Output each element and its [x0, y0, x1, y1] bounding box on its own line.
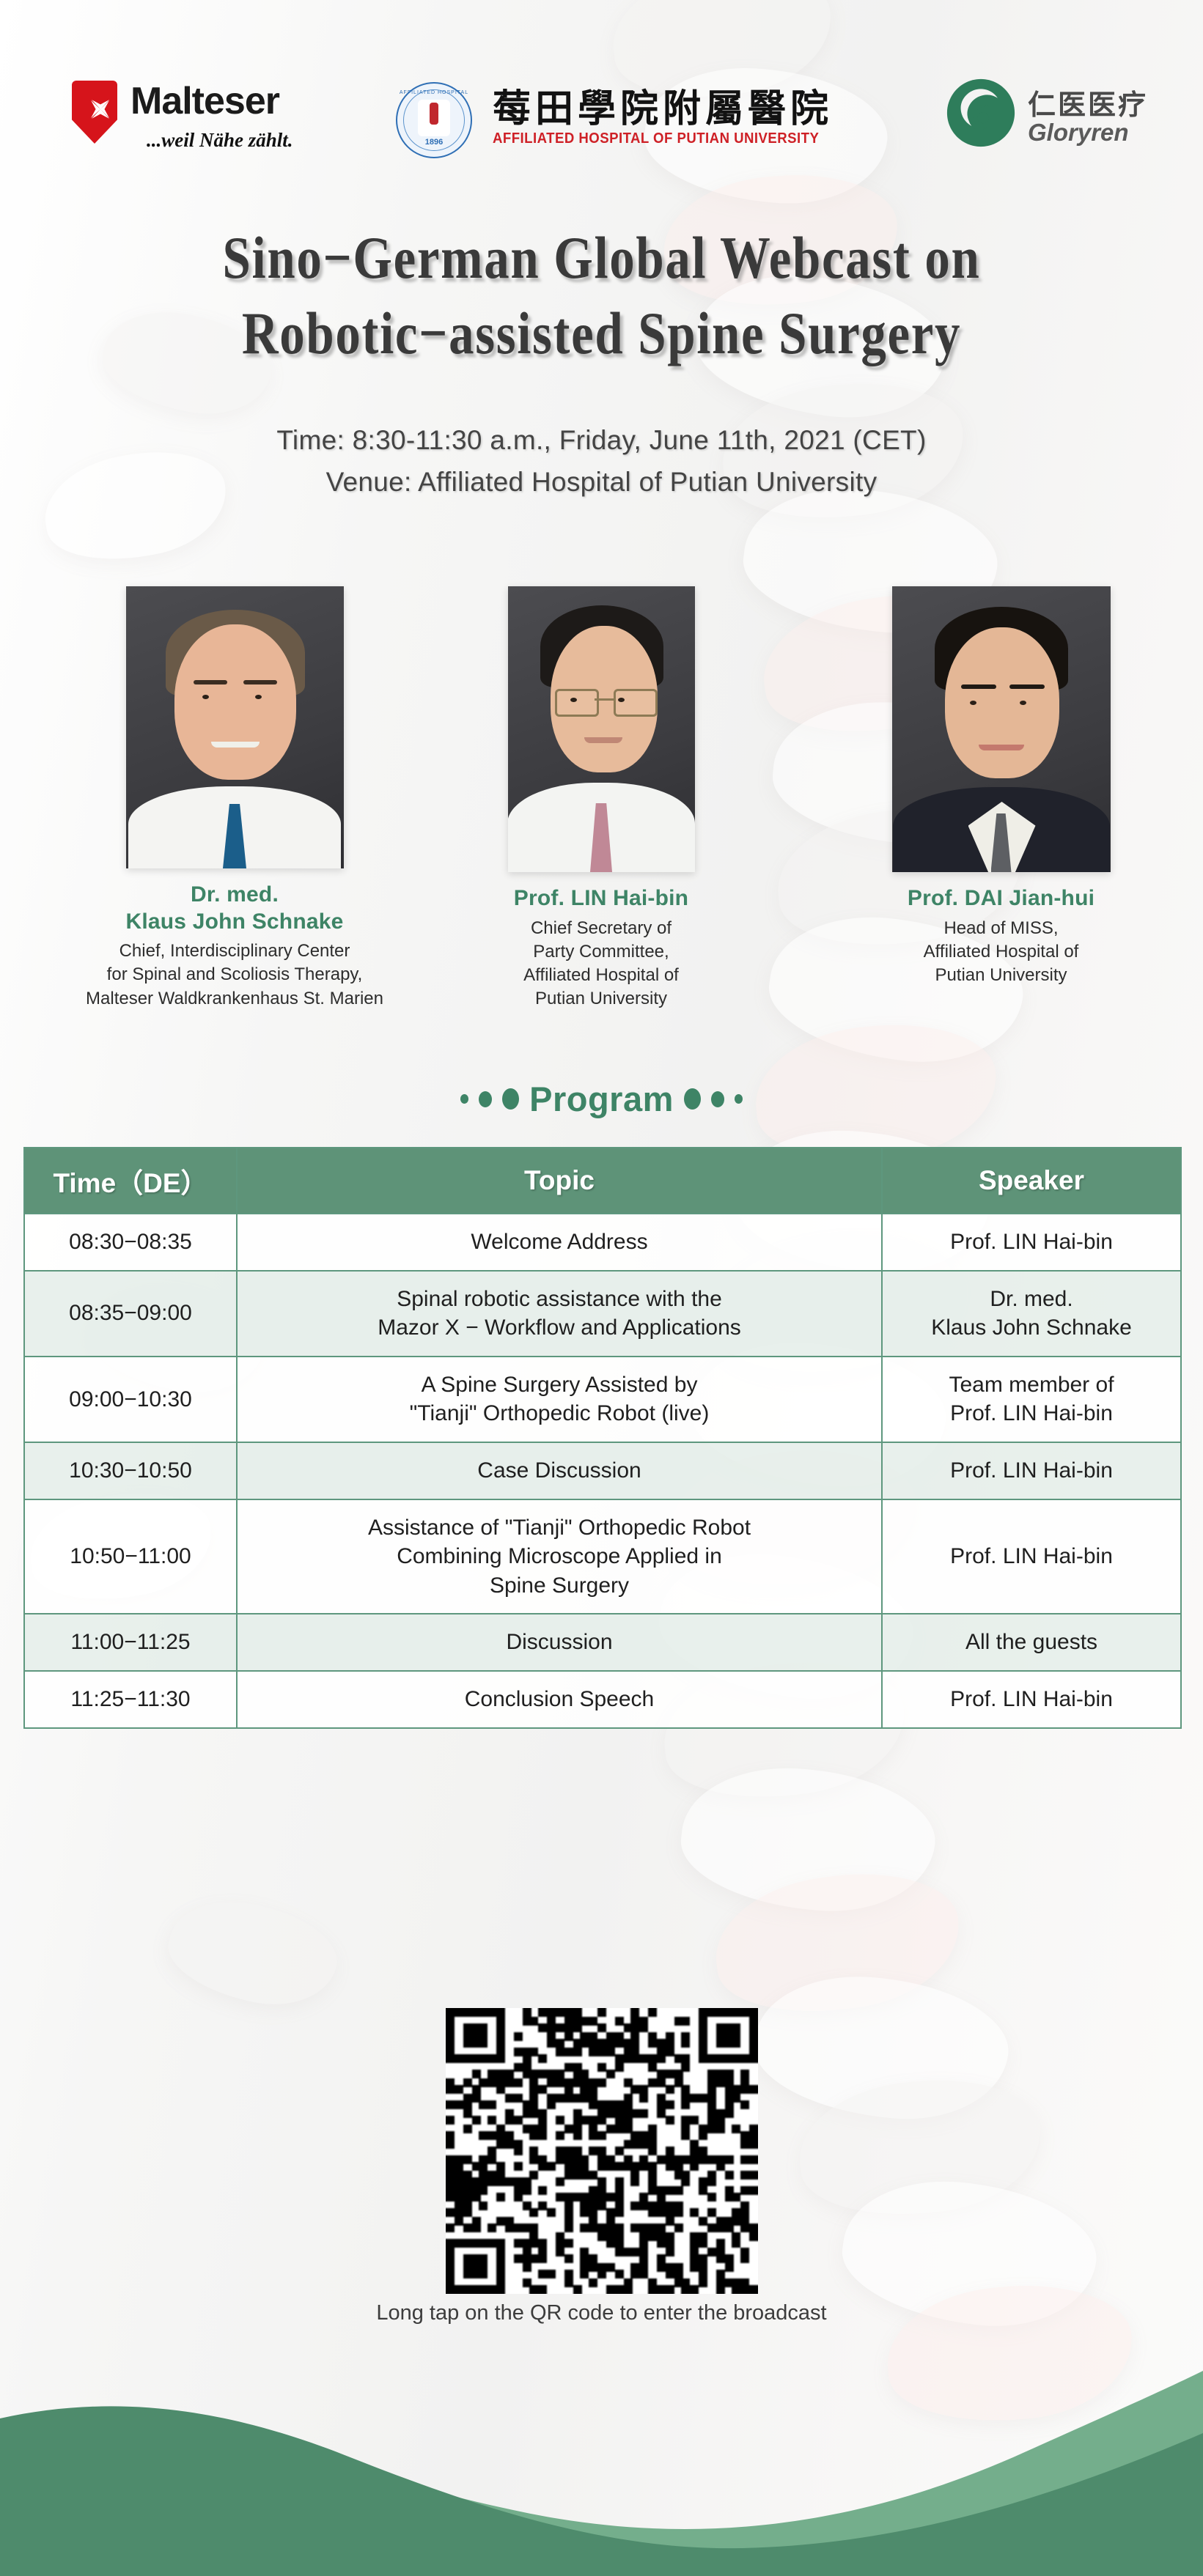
program-table-body: 08:30−08:35Welcome AddressProf. LIN Hai-… — [24, 1214, 1181, 1728]
speaker-role-3-line2: Affiliated Hospital of — [799, 940, 1203, 964]
speaker-role-1-line3: Malteser Waldkrankenhaus St. Marien — [0, 987, 469, 1011]
column-header-time: Time（DE） — [24, 1148, 237, 1214]
eyebrow-left — [194, 680, 227, 684]
cell-topic: Discussion — [237, 1614, 882, 1671]
table-row: 11:00−11:25DiscussionAll the guests — [24, 1614, 1181, 1671]
face — [945, 627, 1059, 778]
cell-time: 11:25−11:30 — [24, 1671, 237, 1728]
table-row: 10:30−10:50Case DiscussionProf. LIN Hai-… — [24, 1442, 1181, 1499]
decor-dot-right-1 — [684, 1088, 701, 1110]
footer-wave-decoration — [0, 2283, 1203, 2576]
speaker-role-1-line2: for Spinal and Scoliosis Therapy, — [0, 963, 469, 986]
qr-code-icon[interactable] — [446, 2008, 758, 2294]
logo-putian-hospital: AFFILIATED HOSPITAL 1896 莓田學院附屬醫院 AFFILI… — [396, 73, 806, 176]
table-row: 08:30−08:35Welcome AddressProf. LIN Hai-… — [24, 1214, 1181, 1271]
eyebrow-right — [243, 680, 277, 684]
eye-right — [618, 698, 625, 702]
mouth — [211, 742, 260, 748]
vertebra-shape — [792, 2069, 1047, 2226]
cell-topic: Welcome Address — [237, 1214, 882, 1271]
program-heading-label: Program — [529, 1079, 674, 1119]
speaker-role-2-line4: Putian University — [414, 987, 788, 1011]
speaker-role-3-line1: Head of MISS, — [799, 917, 1203, 940]
decor-dot-left-2 — [479, 1091, 492, 1107]
cell-speaker: Prof. LIN Hai-bin — [882, 1442, 1181, 1499]
cell-time: 10:50−11:00 — [24, 1499, 237, 1614]
vertebra-shape — [675, 1757, 941, 1922]
hospital-seal-icon: AFFILIATED HOSPITAL 1896 — [396, 82, 472, 158]
program-table: Time（DE） Topic Speaker 08:30−08:35Welcom… — [23, 1147, 1182, 1729]
cell-time: 09:00−10:30 — [24, 1357, 237, 1442]
logo-gloryren: 仁医医疗 Gloryren — [946, 76, 1188, 171]
avatar — [892, 586, 1111, 872]
event-meta: Time: 8:30-11:30 a.m., Friday, June 11th… — [0, 419, 1203, 503]
face — [174, 624, 296, 780]
seal-arc-text: AFFILIATED HOSPITAL — [397, 90, 471, 95]
decor-dot-right-3 — [735, 1094, 743, 1104]
avatar — [508, 586, 695, 872]
eye-right — [1020, 701, 1026, 705]
cell-time: 10:30−10:50 — [24, 1442, 237, 1499]
eyebrow-right — [1009, 684, 1045, 689]
cell-topic: A Spine Surgery Assisted by"Tianji" Orth… — [237, 1357, 882, 1442]
event-time: Time: 8:30-11:30 a.m., Friday, June 11th… — [0, 419, 1203, 461]
cell-time: 08:35−09:00 — [24, 1271, 237, 1357]
cell-speaker: All the guests — [882, 1614, 1181, 1671]
table-header-row: Time（DE） Topic Speaker — [24, 1148, 1181, 1214]
gloryren-chinese-name: 仁医医疗 — [1028, 82, 1148, 122]
gloryren-swirl-icon — [946, 78, 1016, 148]
seal-red-figure — [430, 103, 438, 125]
cell-topic: Conclusion Speech — [237, 1671, 882, 1728]
speaker-name-1-line2: Klaus John Schnake — [0, 909, 469, 936]
decor-dot-right-2 — [711, 1091, 724, 1107]
qr-code-canvas[interactable] — [446, 2008, 758, 2294]
logo-malteser: Malteser ...weil Nähe zählt. — [66, 78, 323, 173]
eyebrow-left — [961, 684, 996, 689]
column-header-topic: Topic — [237, 1148, 882, 1214]
cell-speaker: Team member ofProf. LIN Hai-bin — [882, 1357, 1181, 1442]
cell-topic: Case Discussion — [237, 1442, 882, 1499]
cell-time: 11:00−11:25 — [24, 1614, 237, 1671]
malteser-wordmark: Malteser — [130, 82, 279, 120]
logo-row: Malteser ...weil Nähe zählt. AFFILIATED … — [0, 70, 1203, 180]
speaker-name-1-line1: Dr. med. — [0, 882, 469, 909]
cell-speaker: Prof. LIN Hai-bin — [882, 1671, 1181, 1728]
avatar — [126, 586, 344, 868]
eye-left — [202, 695, 209, 699]
mouth — [979, 745, 1024, 750]
vertebra-shape — [748, 1964, 1015, 2132]
cell-speaker: Dr. med.Klaus John Schnake — [882, 1271, 1181, 1357]
vertebra-shape — [160, 1888, 345, 2018]
cell-time: 08:30−08:35 — [24, 1214, 237, 1271]
putian-chinese-name: 莓田學院附屬醫院 — [493, 78, 833, 133]
table-row: 08:35−09:00Spinal robotic assistance wit… — [24, 1271, 1181, 1357]
malteser-tagline: ...weil Nähe zählt. — [147, 129, 293, 152]
page-title: Sino−German Global Webcast on Robotic−as… — [0, 220, 1203, 372]
decor-dot-left-1 — [460, 1094, 468, 1104]
cell-speaker: Prof. LIN Hai-bin — [882, 1214, 1181, 1271]
maltese-cross-shield-icon — [72, 81, 117, 144]
speaker-role-3-line3: Putian University — [799, 964, 1203, 987]
speaker-role-1-line1: Chief, Interdisciplinary Center — [0, 940, 469, 963]
speaker-role-2-line3: Affiliated Hospital of — [414, 964, 788, 987]
eye-left — [970, 701, 976, 705]
title-line-1: Sino−German Global Webcast on — [96, 220, 1106, 295]
eyeglasses-icon — [553, 689, 656, 714]
table-row: 11:25−11:30Conclusion SpeechProf. LIN Ha… — [24, 1671, 1181, 1728]
seal-year: 1896 — [397, 138, 471, 147]
column-header-speaker: Speaker — [882, 1148, 1181, 1214]
eye-left — [570, 698, 577, 702]
decor-dot-left-3 — [502, 1088, 519, 1110]
program-heading: Program — [0, 1079, 1203, 1119]
title-line-2: Robotic−assisted Spine Surgery — [96, 295, 1106, 371]
maltese-cross-icon — [84, 92, 117, 126]
table-row: 09:00−10:30A Spine Surgery Assisted by"T… — [24, 1357, 1181, 1442]
speaker-name-3: Prof. DAI Jian-hui — [799, 885, 1203, 912]
cell-speaker: Prof. LIN Hai-bin — [882, 1499, 1181, 1614]
speaker-name-2: Prof. LIN Hai-bin — [414, 885, 788, 912]
eye-right — [255, 695, 262, 699]
speaker-card-3: Prof. DAI Jian-hui Head of MISS, Affilia… — [799, 586, 1203, 987]
speakers-section: Dr. med. Klaus John Schnake Chief, Inter… — [0, 586, 1203, 1063]
event-venue: Venue: Affiliated Hospital of Putian Uni… — [0, 461, 1203, 503]
cell-topic: Spinal robotic assistance with theMazor … — [237, 1271, 882, 1357]
cell-topic: Assistance of "Tianji" Orthopedic RobotC… — [237, 1499, 882, 1614]
gloryren-english-name: Gloryren — [1028, 119, 1129, 147]
mouth — [584, 737, 622, 743]
putian-english-name: AFFILIATED HOSPITAL OF PUTIAN UNIVERSITY — [493, 130, 819, 147]
speaker-role-2-line1: Chief Secretary of — [414, 917, 788, 940]
vertebra-shape — [707, 1860, 968, 2026]
speaker-role-2-line2: Party Committee, — [414, 940, 788, 964]
speaker-card-1: Dr. med. Klaus John Schnake Chief, Inter… — [0, 586, 469, 1011]
speaker-card-2: Prof. LIN Hai-bin Chief Secretary of Par… — [414, 586, 788, 1011]
table-row: 10:50−11:00Assistance of "Tianji" Orthop… — [24, 1499, 1181, 1614]
